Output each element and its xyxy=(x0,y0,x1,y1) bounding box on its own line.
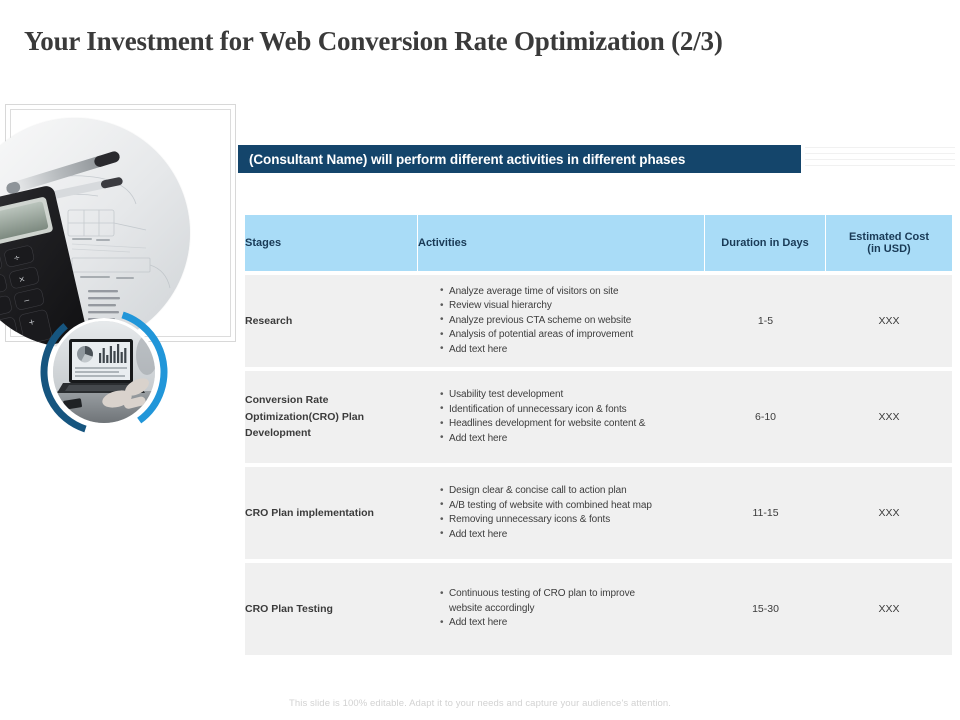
banner-decorative-lines xyxy=(805,147,955,173)
table-row: Research Analyze average time of visitor… xyxy=(245,275,952,367)
activity-list: Analyze average time of visitors on site… xyxy=(418,285,705,358)
column-header-cost-line2: (in USD) xyxy=(867,243,910,255)
list-item: Usability test development xyxy=(440,388,705,403)
section-banner: (Consultant Name) will perform different… xyxy=(238,145,801,173)
table-row: CRO Plan Testing Continuous testing of C… xyxy=(245,563,952,655)
editable-footer-note: This slide is 100% editable. Adapt it to… xyxy=(0,698,960,709)
table-header: Stages Activities Duration in Days Estim… xyxy=(245,215,952,271)
list-item: Review visual hierarchy xyxy=(440,299,705,314)
slide-canvas: Your Investment for Web Conversion Rate … xyxy=(0,0,960,720)
list-item: A/B testing of website with combined hea… xyxy=(440,499,705,514)
column-header-duration: Duration in Days xyxy=(705,215,826,271)
list-item: Analysis of potential areas of improveme… xyxy=(440,328,705,343)
column-header-cost-line1: Estimated Cost xyxy=(849,231,929,243)
cell-activities: Continuous testing of CRO plan to improv… xyxy=(418,563,705,655)
cell-activities: Usability test development Identificatio… xyxy=(418,371,705,463)
laptop-analytics-photo xyxy=(50,318,158,426)
table-row: CRO Plan implementation Design clear & c… xyxy=(245,467,952,559)
cell-activities: Analyze average time of visitors on site… xyxy=(418,275,705,367)
activity-list: Continuous testing of CRO plan to improv… xyxy=(418,587,705,631)
list-item: Identification of unnecessary icon & fon… xyxy=(440,403,705,418)
list-item: Add text here xyxy=(440,432,705,447)
table-body: Research Analyze average time of visitor… xyxy=(245,275,952,655)
list-item: Analyze previous CTA scheme on website xyxy=(440,314,705,329)
page-title: Your Investment for Web Conversion Rate … xyxy=(24,26,723,57)
column-header-stages: Stages xyxy=(245,215,418,271)
table-header-row: Stages Activities Duration in Days Estim… xyxy=(245,215,952,271)
list-item: Continuous testing of CRO plan to improv… xyxy=(440,587,664,616)
svg-text:=: = xyxy=(0,324,5,334)
cell-cost: XXX xyxy=(826,275,952,367)
cell-activities: Design clear & concise call to action pl… xyxy=(418,467,705,559)
list-item: Design clear & concise call to action pl… xyxy=(440,484,705,499)
cell-duration: 1-5 xyxy=(705,275,826,367)
investment-table: Stages Activities Duration in Days Estim… xyxy=(245,211,952,659)
cell-cost: XXX xyxy=(826,371,952,463)
cell-cost: XXX xyxy=(826,467,952,559)
cell-cost: XXX xyxy=(826,563,952,655)
cell-stage: CRO Plan implementation xyxy=(245,467,418,559)
list-item: Headlines development for website conten… xyxy=(440,417,705,432)
investment-table-container: Stages Activities Duration in Days Estim… xyxy=(245,211,949,659)
table-row: Conversion Rate Optimization(CRO) Plan D… xyxy=(245,371,952,463)
cell-duration: 15-30 xyxy=(705,563,826,655)
cell-stage: Research xyxy=(245,275,418,367)
list-item: Add text here xyxy=(440,528,705,543)
cell-stage: Conversion Rate Optimization(CRO) Plan D… xyxy=(245,371,418,463)
activity-list: Usability test development Identificatio… xyxy=(418,388,705,446)
image-group: 78 9÷ 45 6× 12 3− 0. =+ xyxy=(0,118,240,498)
activity-list: Design clear & concise call to action pl… xyxy=(418,484,705,542)
column-header-activities: Activities xyxy=(418,215,705,271)
list-item: Removing unnecessary icons & fonts xyxy=(440,513,705,528)
cell-duration: 6-10 xyxy=(705,371,826,463)
cell-stage: CRO Plan Testing xyxy=(245,563,418,655)
cell-duration: 11-15 xyxy=(705,467,826,559)
list-item: Add text here xyxy=(440,616,705,631)
list-item: Analyze average time of visitors on site xyxy=(440,285,705,300)
column-header-estimated-cost: Estimated Cost (in USD) xyxy=(826,215,952,271)
list-item: Add text here xyxy=(440,343,705,358)
